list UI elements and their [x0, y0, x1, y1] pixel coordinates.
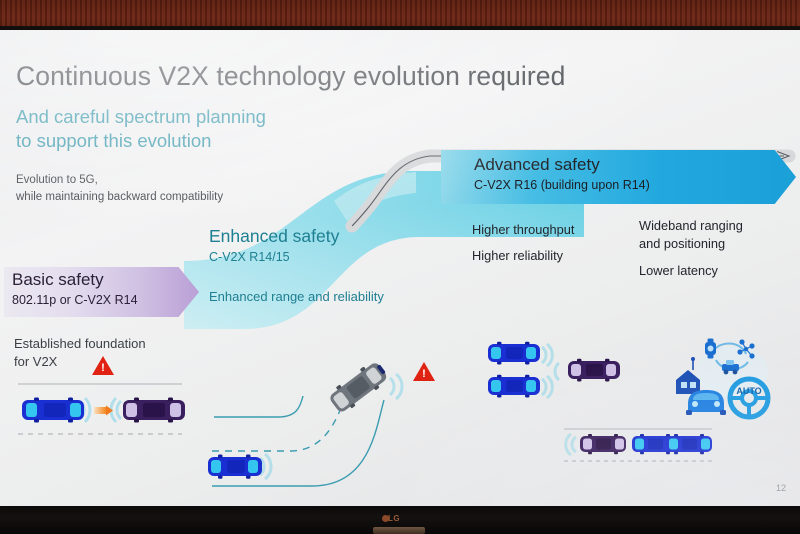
warning-triangle-icon: !	[413, 362, 435, 381]
auto-label: AUTO	[736, 386, 761, 396]
basic-safety-body: Established foundation for V2X	[14, 335, 146, 372]
scene-enhanced-safety: !	[200, 356, 450, 502]
benefit-higher-throughput: Higher throughput	[472, 217, 574, 243]
basic-safety-subtitle: 802.11p or C-V2X R14	[12, 293, 138, 307]
basic-safety-banner[interactable]: Basic safety 802.11p or C-V2X R14	[4, 267, 199, 317]
basic-body-line-2: for V2X	[14, 353, 146, 371]
benefit-higher-reliability: Higher reliability	[472, 243, 574, 269]
scene-advanced-cluster	[480, 339, 630, 405]
car-blue-top	[488, 342, 540, 365]
car-purple-right	[568, 359, 620, 382]
basic-body-line-1: Established foundation	[14, 335, 146, 353]
benefit-and-positioning: and positioning	[639, 235, 743, 253]
subtitle-line-1: And careful spectrum planning	[16, 105, 266, 129]
advanced-benefits-column-2: Wideband ranging and positioning Lower l…	[639, 217, 743, 280]
car-purple	[123, 398, 185, 423]
advanced-safety-banner[interactable]: Advanced safety C-V2X R16 (building upon…	[441, 150, 796, 204]
presentation-slide: Continuous V2X technology evolution requ…	[4, 36, 796, 502]
lg-logo: LG	[388, 514, 400, 523]
car-blue	[22, 398, 84, 423]
advanced-benefits-column-1: Higher throughput Higher reliability	[472, 217, 574, 268]
page-number: 12	[776, 483, 786, 493]
car-front-view-icon	[686, 390, 726, 415]
basic-safety-title: Basic safety	[12, 270, 104, 290]
monitor-stand	[373, 527, 425, 534]
car-blue-bottom	[488, 375, 540, 398]
page-title: Continuous V2X technology evolution requ…	[16, 61, 566, 92]
benefit-wideband-ranging: Wideband ranging	[639, 217, 743, 235]
car-blue-follower-2	[666, 434, 712, 454]
enhanced-safety-subtitle: C-V2X R14/15	[209, 250, 290, 264]
car-purple-leader	[580, 434, 626, 454]
photo-scene: Continuous V2X technology evolution requ…	[0, 0, 800, 534]
enhanced-safety-body: Enhanced range and reliability	[209, 289, 384, 304]
scene-autonomous-connectivity: AUTO	[670, 332, 790, 416]
advanced-safety-title: Advanced safety	[474, 155, 600, 175]
benefit-lower-latency: Lower latency	[639, 262, 743, 280]
car-blue-lower	[208, 455, 262, 479]
car-grey-tilted	[326, 358, 391, 416]
scene-platoon	[558, 424, 718, 466]
enhanced-safety-title: Enhanced safety	[209, 226, 339, 247]
advanced-safety-subtitle: C-V2X R16 (building upon R14)	[474, 178, 650, 192]
warning-triangle-icon: !	[92, 356, 114, 375]
scene-basic-safety: !	[10, 372, 190, 442]
